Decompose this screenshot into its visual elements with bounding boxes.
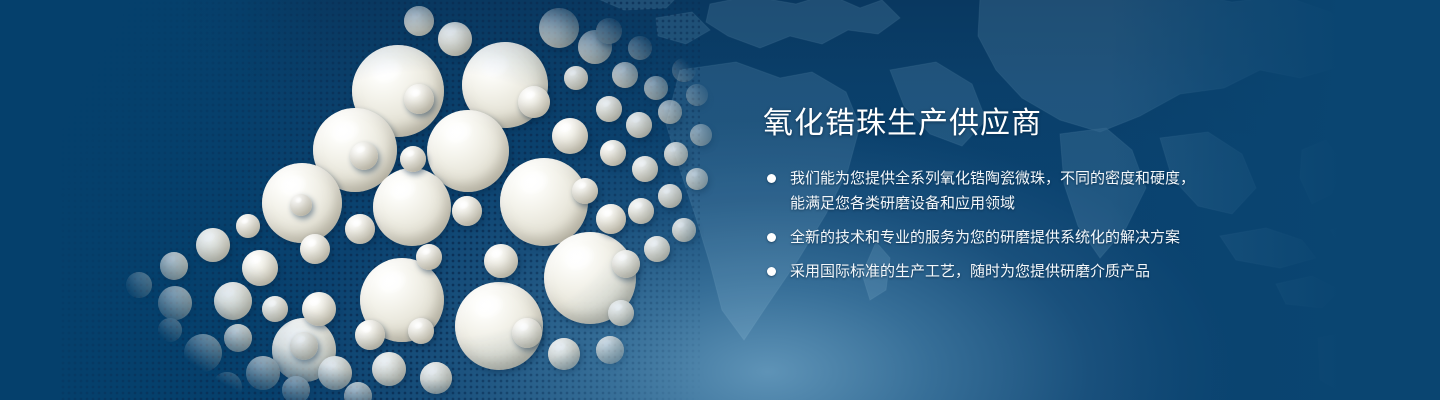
bead [686, 168, 708, 190]
bead [596, 336, 624, 364]
bead [214, 282, 252, 320]
bead [100, 300, 126, 326]
bead [236, 214, 260, 238]
bead [626, 112, 652, 138]
list-item-line: 采用国际标准的生产工艺，随时为您提供研磨介质产品 [790, 259, 1233, 284]
bead [212, 372, 242, 400]
bead [242, 250, 278, 286]
list-item: 采用国际标准的生产工艺，随时为您提供研磨介质产品 [763, 259, 1233, 284]
bead [438, 22, 472, 56]
banner-content: 氧化锆珠生产供应商 我们能为您提供全系列氧化锆陶瓷微珠，不同的密度和硬度， 能满… [763, 104, 1233, 284]
bead [644, 76, 668, 100]
zirconia-beads-image [0, 0, 760, 400]
bead [344, 382, 372, 400]
bead [452, 196, 482, 226]
bead [160, 252, 188, 280]
bead [658, 184, 682, 208]
bead [672, 218, 696, 242]
bullet-dot-icon [767, 233, 776, 242]
bead [262, 296, 288, 322]
bullet-dot-icon [767, 267, 776, 276]
bead [184, 334, 222, 372]
bead [290, 332, 318, 360]
bead [518, 86, 550, 118]
bead [600, 140, 626, 166]
bead [628, 198, 654, 224]
bead [644, 236, 670, 262]
bead [632, 156, 658, 182]
list-item-line: 能满足您各类研磨设备和应用领域 [790, 191, 1233, 216]
bead [548, 338, 580, 370]
list-item: 全新的技术和专业的服务为您的研磨提供系统化的解决方案 [763, 225, 1233, 250]
bead [345, 214, 375, 244]
hero-banner: 氧化锆珠生产供应商 我们能为您提供全系列氧化锆陶瓷微珠，不同的密度和硬度， 能满… [0, 0, 1440, 400]
bead [404, 6, 434, 36]
bead [158, 286, 192, 320]
bead [416, 244, 442, 270]
bead [628, 36, 652, 60]
bead [664, 142, 688, 166]
bead [196, 228, 230, 262]
bead [408, 318, 434, 344]
bead [372, 352, 406, 386]
bead [512, 318, 542, 348]
bead [596, 204, 626, 234]
bead [656, 16, 682, 42]
feature-list: 我们能为您提供全系列氧化锆陶瓷微珠，不同的密度和硬度， 能满足您各类研磨设备和应… [763, 166, 1233, 284]
bead [355, 320, 385, 350]
bead [158, 318, 182, 342]
bead [302, 292, 336, 326]
bead [500, 158, 588, 246]
bead [126, 272, 152, 298]
bead [552, 118, 588, 154]
list-item-line: 我们能为您提供全系列氧化锆陶瓷微珠，不同的密度和硬度， [790, 166, 1233, 191]
bead [596, 18, 622, 44]
list-item-line: 全新的技术和专业的服务为您的研磨提供系统化的解决方案 [790, 225, 1233, 250]
page-title: 氧化锆珠生产供应商 [763, 104, 1233, 144]
bead [564, 66, 588, 90]
bead [290, 194, 312, 216]
bullet-dot-icon [767, 174, 776, 183]
bead [612, 250, 640, 278]
bead [658, 100, 682, 124]
bead [246, 356, 280, 390]
bead [608, 300, 634, 326]
bead [686, 84, 708, 106]
bead [404, 84, 434, 114]
bead [420, 362, 452, 394]
bead [596, 96, 622, 122]
bead [612, 62, 638, 88]
bead [484, 244, 518, 278]
bead [120, 330, 144, 354]
bead [373, 168, 451, 246]
bead [572, 178, 598, 204]
bead [539, 8, 579, 48]
bead [224, 324, 252, 352]
list-item: 我们能为您提供全系列氧化锆陶瓷微珠，不同的密度和硬度， 能满足您各类研磨设备和应… [763, 166, 1233, 216]
bead [350, 142, 378, 170]
bead [672, 58, 696, 82]
bead [282, 376, 310, 400]
bead [300, 234, 330, 264]
bead [158, 370, 184, 396]
bead [318, 356, 352, 390]
bead [690, 124, 712, 146]
bead [400, 146, 426, 172]
